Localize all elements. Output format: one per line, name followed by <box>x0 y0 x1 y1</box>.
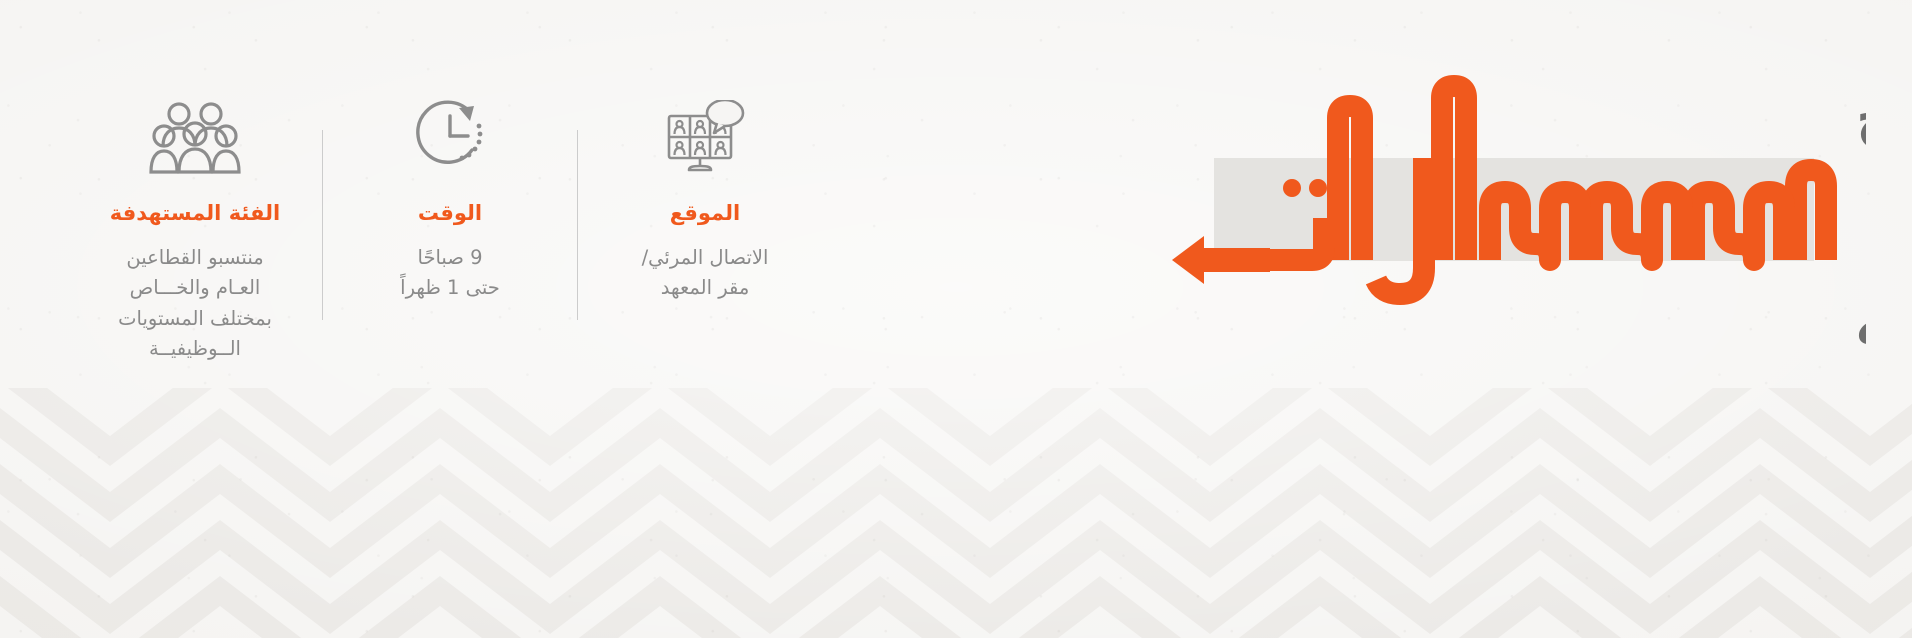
event-banner: برنامج <box>0 0 1912 638</box>
info-columns: الفئة المستهدفة منتسبو القطاعين العـام و… <box>96 96 776 364</box>
body-line: منتسبو القطاعين <box>118 243 272 273</box>
body-line: حتى 1 ظهراً <box>400 273 500 303</box>
column-body: منتسبو القطاعين العـام والخـــاص بمختلف … <box>118 243 272 364</box>
logo-subtitle: وطنية <box>1854 275 1866 358</box>
column-divider <box>322 130 323 320</box>
logo-dot-1 <box>1283 179 1301 197</box>
body-line: العـام والخـــاص <box>118 273 272 303</box>
info-column-target-audience: الفئة المستهدفة منتسبو القطاعين العـام و… <box>96 96 294 364</box>
program-logo: برنامج <box>1166 58 1866 358</box>
body-line: مقر المعهد <box>642 273 769 303</box>
column-divider <box>577 130 578 320</box>
chevron-pattern-decoration <box>0 388 1912 638</box>
logo-dot-2 <box>1309 179 1327 197</box>
column-title: الموقع <box>670 202 740 225</box>
column-title: الوقت <box>418 202 482 225</box>
body-line: الــوظيفيــة <box>118 334 272 364</box>
clock-icon <box>410 96 490 176</box>
group-of-people-icon <box>149 96 241 176</box>
video-conference-icon <box>659 96 751 176</box>
body-line: بمختلف المستويات <box>118 304 272 334</box>
column-title: الفئة المستهدفة <box>110 202 280 225</box>
column-body: 9 صباحًا حتى 1 ظهراً <box>400 243 500 303</box>
logo-kicker: برنامج <box>1856 85 1866 150</box>
column-body: الاتصال المرئي/ مقر المعهد <box>642 243 769 303</box>
info-column-location: الموقع الاتصال المرئي/ مقر المعهد <box>606 96 804 304</box>
body-line: 9 صباحًا <box>400 243 500 273</box>
body-line: الاتصال المرئي/ <box>642 243 769 273</box>
info-column-time: الوقت 9 صباحًا حتى 1 ظهراً <box>351 96 549 304</box>
